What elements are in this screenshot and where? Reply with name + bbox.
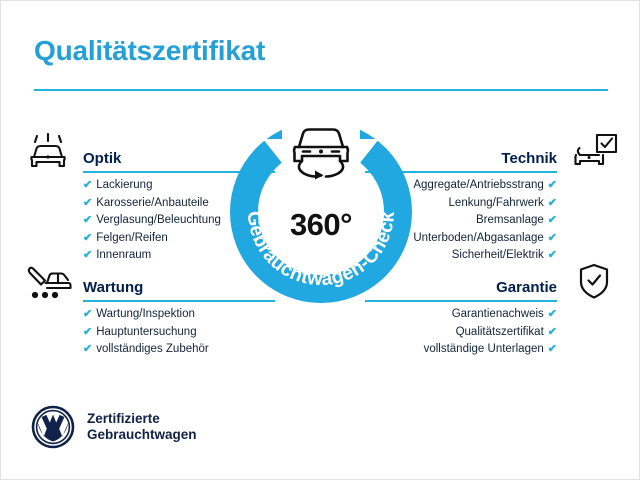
- section-title: Wartung: [83, 279, 143, 296]
- check-icon: ✔: [548, 233, 557, 244]
- section-title: Optik: [83, 150, 121, 167]
- list-item-label: vollständige Unterlagen: [424, 341, 544, 359]
- list-item: ✔Hauptuntersuchung: [83, 324, 273, 342]
- check-icon: ✔: [548, 180, 557, 191]
- check-icon: ✔: [83, 233, 92, 244]
- list-item-label: Lackierung: [96, 177, 152, 195]
- check-icon: ✔: [83, 250, 92, 261]
- car-checkbox-icon: [569, 133, 619, 173]
- list-item-label: Lenkung/Fahrwerk: [449, 195, 544, 213]
- list-item: ✔Qualitätszertifikat: [369, 324, 557, 342]
- list-item: ✔vollständiges Zubehör: [83, 341, 273, 359]
- checklist-garantie: ✔Garantienachweis ✔Qualitätszertifikat ✔…: [369, 306, 619, 359]
- check-icon: ✔: [83, 215, 92, 226]
- title-divider: [34, 89, 608, 91]
- check-icon: ✔: [548, 250, 557, 261]
- check-icon: ✔: [83, 198, 92, 209]
- list-item: ✔vollständige Unterlagen: [369, 341, 557, 359]
- section-title: Technik: [501, 150, 557, 167]
- section-title: Garantie: [496, 279, 557, 296]
- list-item-label: vollständiges Zubehör: [96, 341, 209, 359]
- badge-center-label: 360°: [230, 207, 412, 243]
- list-item-label: Wartung/Inspektion: [96, 306, 195, 324]
- list-item-label: Aggregate/Antriebsstrang: [413, 177, 543, 195]
- list-item: ✔Garantienachweis: [369, 306, 557, 324]
- check-icon: ✔: [548, 215, 557, 226]
- list-item: ✔Wartung/Inspektion: [83, 306, 273, 324]
- wrench-car-icon: [23, 262, 73, 302]
- check-icon: ✔: [548, 344, 557, 355]
- list-item-label: Hauptuntersuchung: [96, 324, 196, 342]
- shield-check-icon: [569, 262, 619, 302]
- vw-logo-icon: [31, 405, 75, 449]
- checklist-wartung: ✔Wartung/Inspektion ✔Hauptuntersuchung ✔…: [23, 306, 273, 359]
- check-icon: ✔: [548, 327, 557, 338]
- list-item-label: Qualitätszertifikat: [456, 324, 544, 342]
- list-item-label: Karosserie/Anbauteile: [96, 195, 209, 213]
- check-icon: ✔: [83, 327, 92, 338]
- footer-brand: Zertifizierte Gebrauchtwagen: [31, 405, 197, 449]
- footer-label: Zertifizierte Gebrauchtwagen: [87, 411, 197, 443]
- badge-360-gebrauchtwagen-check: Gebrauchtwagen-Check 360°: [230, 121, 412, 303]
- check-icon: ✔: [83, 344, 92, 355]
- list-item-label: Garantienachweis: [452, 306, 544, 324]
- footer-line-1: Zertifizierte: [87, 411, 197, 427]
- car-rotate-icon: [282, 121, 360, 183]
- list-item-label: Unterboden/Abgasanlage: [413, 230, 543, 248]
- list-item-label: Felgen/Reifen: [96, 230, 168, 248]
- car-shine-icon: [23, 133, 73, 173]
- page-title: Qualitätszertifikat: [34, 35, 265, 67]
- check-icon: ✔: [548, 198, 557, 209]
- certificate-page: Qualitätszertifikat Optik: [0, 0, 640, 480]
- check-icon: ✔: [548, 309, 557, 320]
- list-item-label: Verglasung/Beleuchtung: [96, 212, 221, 230]
- list-item-label: Bremsanlage: [476, 212, 544, 230]
- footer-line-2: Gebrauchtwagen: [87, 427, 197, 443]
- check-icon: ✔: [83, 309, 92, 320]
- check-icon: ✔: [83, 180, 92, 191]
